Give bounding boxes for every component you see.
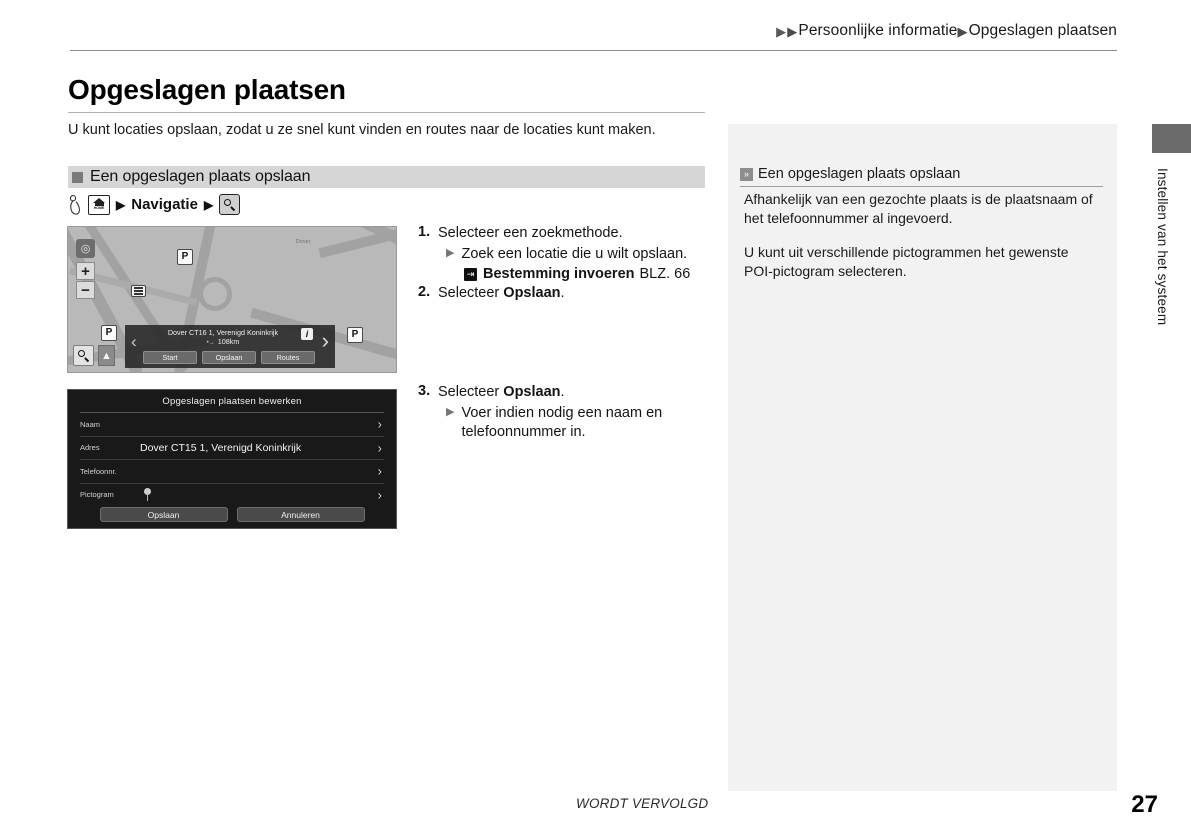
step-text: Selecteer Opslaan.	[438, 383, 718, 402]
edit-saved-places-screenshot: Opgeslagen plaatsen bewerken Naam › Adre…	[67, 389, 397, 529]
page-number: 27	[1131, 791, 1158, 819]
page-title: Opgeslagen plaatsen	[68, 74, 346, 106]
note-body: Afhankelijk van een gezochte plaats is d…	[744, 190, 1099, 295]
step-text-prefix: Selecteer	[438, 384, 503, 400]
edit-row-adres[interactable]: Adres Dover CT15 1, Verenigd Koninkrijk …	[80, 437, 384, 461]
steps-group-1: 1. Selecteer een zoekmethode. ▶ Zoek een…	[418, 224, 718, 305]
home-icon-label: HOME	[94, 207, 104, 211]
map-parking-marker[interactable]: P	[177, 249, 193, 265]
substep-text-line1: Voer indien nodig een naam en	[461, 405, 662, 421]
step-text: Selecteer Opslaan.	[438, 284, 718, 303]
map-road	[318, 226, 397, 258]
reference-arrow-icon: ⇥	[464, 268, 477, 281]
info-distance: •→108km	[147, 337, 299, 346]
map-start-button[interactable]: Start	[143, 351, 197, 364]
edit-row-label: Naam	[80, 420, 140, 429]
breadcrumb-marker-1-icon: ▶	[776, 25, 786, 38]
reference-page: BLZ. 66	[640, 266, 691, 282]
info-destination-title: Dover CT16 1, Verenigd Koninkrijk	[147, 328, 299, 337]
map-roundabout	[198, 277, 232, 311]
info-prev-arrow-icon[interactable]: ‹	[131, 333, 137, 350]
step-number: 2.	[418, 284, 438, 300]
magnifier-glyph	[78, 350, 89, 361]
search-icon[interactable]	[219, 194, 240, 215]
section-heading: Een opgeslagen plaats opslaan	[90, 168, 310, 186]
map-pin-icon	[144, 488, 151, 501]
map-north-up-button[interactable]: ▲	[98, 345, 115, 366]
map-zoom-out-button[interactable]: −	[76, 281, 95, 299]
chevron-right-icon: ›	[378, 488, 382, 501]
breadcrumb-marker-2-icon: ▶	[787, 25, 797, 38]
map-parking-marker[interactable]: P	[101, 325, 117, 341]
path-item-navigatie[interactable]: Navigatie	[131, 196, 198, 213]
title-divider	[68, 112, 705, 113]
breadcrumb-separator-icon: ▶	[957, 25, 967, 38]
info-details-icon[interactable]: i	[301, 328, 313, 340]
step-3: 3. Selecteer Opslaan.	[418, 383, 718, 402]
navigation-path: HOME ▶ Navigatie ▶	[68, 194, 240, 215]
breadcrumb-page: Opgeslagen plaatsen	[969, 22, 1117, 40]
note-heading: Een opgeslagen plaats opslaan	[758, 166, 960, 182]
step-2: 2. Selecteer Opslaan.	[418, 284, 718, 303]
info-button-row: Start Opslaan Routes	[143, 351, 315, 364]
edit-row-label: Pictogram	[80, 490, 140, 499]
step-1-reference[interactable]: ⇥ Bestemming invoeren BLZ. 66	[464, 266, 718, 282]
step-3-substep: ▶ Voer indien nodig een naam en telefoon…	[446, 404, 718, 442]
note-paragraph-2: U kunt uit verschillende pictogrammen he…	[744, 243, 1099, 282]
breadcrumb-section: Persoonlijke informatie	[798, 22, 957, 40]
substep-text: Zoek een locatie die u wilt opslaan.	[461, 245, 687, 264]
substep-triangle-icon: ▶	[446, 404, 454, 421]
magnifier-glyph	[224, 199, 235, 210]
step-number: 1.	[418, 224, 438, 240]
section-bullet-icon	[72, 172, 83, 183]
step-text: Selecteer een zoekmethode.	[438, 224, 718, 243]
info-next-arrow-icon[interactable]: ›	[322, 330, 329, 352]
map-street-label: Dover	[296, 239, 311, 245]
edit-row-naam[interactable]: Naam ›	[80, 413, 384, 437]
side-tab-label: Instellen van het systeem	[1155, 168, 1170, 325]
note-heading-row: » Een opgeslagen plaats opslaan	[740, 166, 1103, 187]
substep-text-wrapper: Voer indien nodig een naam en telefoonnu…	[461, 404, 662, 442]
breadcrumb: ▶ ▶ Persoonlijke informatie ▶ Opgeslagen…	[776, 22, 1117, 40]
edit-row-label: Telefoonnr.	[80, 467, 140, 476]
footer-continued-label: WORDT VERVOLGD	[576, 796, 708, 811]
home-button-icon[interactable]: HOME	[88, 195, 110, 215]
map-info-bar: ‹ › Dover CT16 1, Verenigd Koninkrijk •→…	[125, 325, 335, 368]
map-screenshot: Dover ◎ + − P P P ▲ ‹ › Dover CT16 1, Ve…	[67, 226, 397, 373]
edit-dialog-title: Opgeslagen plaatsen bewerken	[68, 390, 396, 407]
info-distance-value: 108km	[218, 337, 240, 346]
map-opslaan-button[interactable]: Opslaan	[202, 351, 256, 364]
steps-group-2: 3. Selecteer Opslaan. ▶ Voer indien nodi…	[418, 383, 718, 442]
side-note-panel: » Een opgeslagen plaats opslaan Afhankel…	[728, 124, 1117, 791]
route-arrow-icon: •→	[207, 340, 215, 346]
chevron-right-icon: ›	[378, 465, 382, 478]
edit-save-button[interactable]: Opslaan	[100, 507, 228, 522]
map-zoom-in-button[interactable]: +	[76, 262, 95, 280]
step-1: 1. Selecteer een zoekmethode.	[418, 224, 718, 243]
step-text-bold: Opslaan	[503, 285, 560, 301]
edit-cancel-button[interactable]: Annuleren	[237, 507, 365, 522]
edit-row-telefoonnr[interactable]: Telefoonnr. ›	[80, 460, 384, 484]
path-arrow-1-icon: ▶	[116, 199, 125, 211]
step-1-substep: ▶ Zoek een locatie die u wilt opslaan.	[446, 245, 718, 264]
chevron-right-icon: ›	[378, 418, 382, 431]
edit-row-label: Adres	[80, 443, 140, 452]
header-divider	[70, 50, 1117, 51]
chevron-right-icon: ›	[378, 441, 382, 454]
section-header: Een opgeslagen plaats opslaan	[68, 166, 705, 188]
hand-touch-icon	[68, 195, 82, 215]
compass-icon[interactable]: ◎	[76, 239, 95, 258]
map-routes-button[interactable]: Routes	[261, 351, 315, 364]
edit-dialog-button-row: Opslaan Annuleren	[68, 507, 396, 522]
step-number: 3.	[418, 383, 438, 399]
side-tab-marker	[1152, 124, 1191, 153]
reference-label: Bestemming invoeren	[483, 266, 635, 282]
map-search-button[interactable]	[73, 345, 94, 366]
map-parking-marker[interactable]: P	[347, 327, 363, 343]
step-text-prefix: Selecteer	[438, 285, 503, 301]
intro-paragraph: U kunt locaties opslaan, zodat u ze snel…	[68, 121, 708, 141]
edit-row-value: Dover CT15 1, Verenigd Koninkrijk	[140, 442, 301, 454]
path-arrow-2-icon: ▶	[204, 199, 213, 211]
note-paragraph-1: Afhankelijk van een gezochte plaats is d…	[744, 190, 1099, 229]
substep-triangle-icon: ▶	[446, 245, 454, 262]
note-chevron-icon: »	[740, 168, 753, 181]
step-text-suffix: .	[561, 285, 565, 301]
step-text-suffix: .	[561, 384, 565, 400]
substep-text-line2: telefoonnummer in.	[461, 424, 585, 440]
map-poi-icon[interactable]	[131, 285, 146, 297]
edit-row-pictogram[interactable]: Pictogram ›	[80, 484, 384, 507]
step-text-bold: Opslaan	[503, 384, 560, 400]
